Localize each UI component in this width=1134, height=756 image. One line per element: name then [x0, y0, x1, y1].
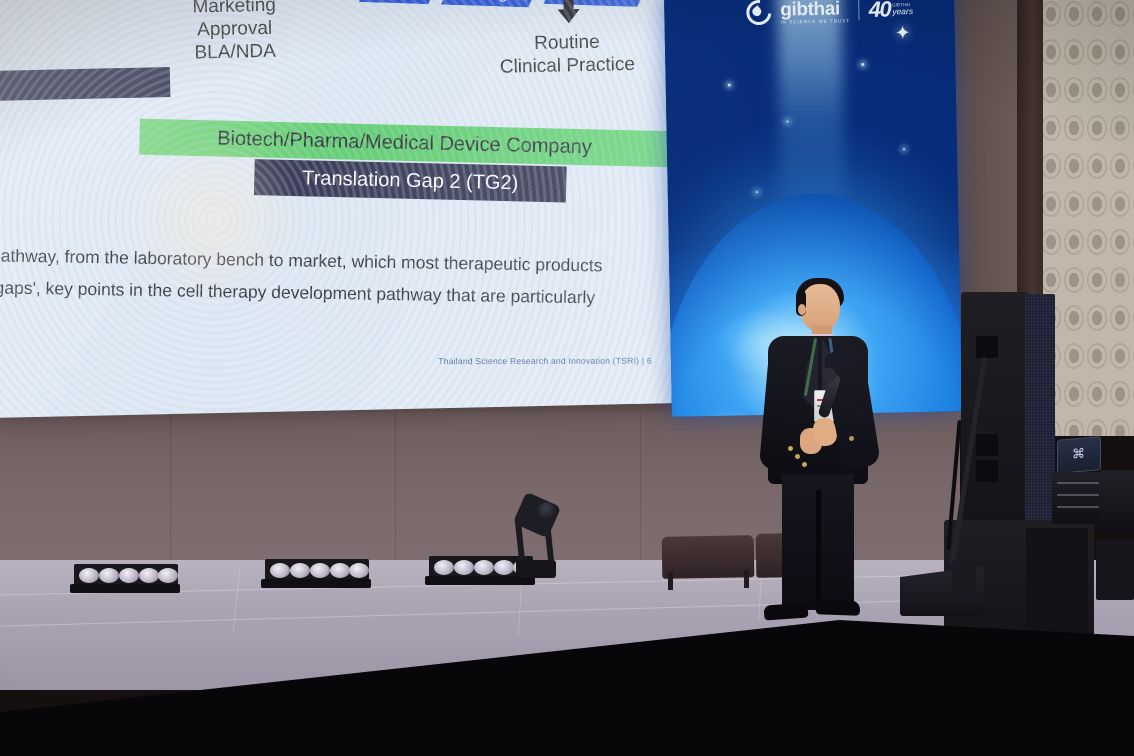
anniversary-number: 40 — [868, 0, 890, 23]
label-marketing-line1: Marketing — [192, 0, 276, 19]
process-chevron-row: search Managemt Healthcare Delivery — [359, 0, 652, 11]
chevron-management-label: Manage — [461, 0, 516, 3]
label-marketing-approval: Marketing Approval BLA/NDA — [192, 0, 277, 65]
slide-body-line-1: t pathway, from the laboratory bench to … — [0, 242, 603, 279]
label-routine-line2: Clinical Practice — [500, 53, 636, 79]
presenter-trouser-seam — [816, 490, 821, 608]
slide-footer: Thailand Science Research and Innovation… — [438, 356, 652, 367]
gibthai-logo: gibthai IN SCIENCE WE TRUST 40 GIBTHAI y… — [746, 0, 913, 25]
presenter-shoe-left — [764, 602, 809, 620]
presenter — [752, 278, 877, 633]
band-translation-gap-1: G1) — [0, 67, 170, 102]
band-translation-gap-2: Translation Gap 2 (TG2) — [254, 159, 567, 202]
sparkle-star-icon: ✦ — [895, 24, 911, 43]
chevron-research: search — [359, 0, 440, 5]
projection-screen: search Managemt Healthcare Delivery Effi… — [0, 0, 695, 418]
logo-divider — [859, 0, 860, 20]
band-tg2-label: Translation Gap 2 (TG2) — [302, 167, 518, 195]
jacket-button-1 — [788, 446, 793, 451]
led-bar-light-1 — [74, 564, 178, 586]
microphone-head — [822, 368, 836, 382]
band-company-label: Biotech/Pharma/Medical Device Company — [217, 127, 592, 159]
label-efficacy: Efficacy — [80, 0, 147, 3]
slide-content: search Managemt Healthcare Delivery Effi… — [0, 0, 695, 418]
equipment-case — [1100, 470, 1134, 532]
jacket-button-3 — [802, 462, 807, 467]
label-marketing-line2: Approval — [193, 17, 277, 42]
pa-speaker-top — [961, 292, 1029, 522]
macbook-laptop: ⌘ — [1057, 436, 1101, 474]
jacket-button-2 — [795, 454, 800, 459]
label-routine-line1: Routine — [499, 30, 635, 56]
anniversary-sub: GIBTHAI — [892, 3, 913, 8]
stage-front-skirt-wrap — [0, 620, 1134, 756]
chevron-management-sup: mt — [515, 0, 526, 3]
anniversary-logo: 40 GIBTHAI years — [868, 0, 913, 23]
line-array-grille — [1025, 294, 1055, 520]
moving-head-spotlight — [514, 498, 558, 578]
gibthai-logo-icon — [741, 0, 776, 30]
stage-front-skirt — [0, 620, 1134, 756]
wall-panel-right — [953, 0, 1019, 300]
gibthai-tagline: IN SCIENCE WE TRUST — [780, 18, 850, 24]
label-routine-clinical: Routine Clinical Practice — [499, 30, 635, 79]
slide-body-line-2: n gaps', key points in the cell therapy … — [0, 274, 595, 311]
apple-logo-icon: ⌘ — [1072, 446, 1085, 460]
anniversary-years: GIBTHAI years — [892, 3, 913, 16]
label-marketing-line3: BLA/NDA — [193, 40, 277, 65]
subwoofer-grille — [1026, 528, 1088, 634]
chevron-healthcare-delivery: Healthcare Delivery — [543, 0, 651, 7]
small-amp-box — [952, 560, 976, 598]
presenter-ear — [798, 304, 806, 315]
anniversary-word: years — [892, 6, 913, 16]
cable-patch-panel — [1096, 540, 1134, 600]
presenter-shoe-right — [816, 599, 860, 616]
chevron-management: Managemt — [441, 0, 542, 8]
jacket-button-4 — [849, 436, 854, 441]
stage-chair-1 — [662, 535, 755, 579]
stage-photo-scene: search Managemt Healthcare Delivery Effi… — [0, 0, 1134, 756]
led-bar-light-2 — [265, 559, 369, 581]
band-company: Biotech/Pharma/Medical Device Company — [139, 119, 670, 167]
